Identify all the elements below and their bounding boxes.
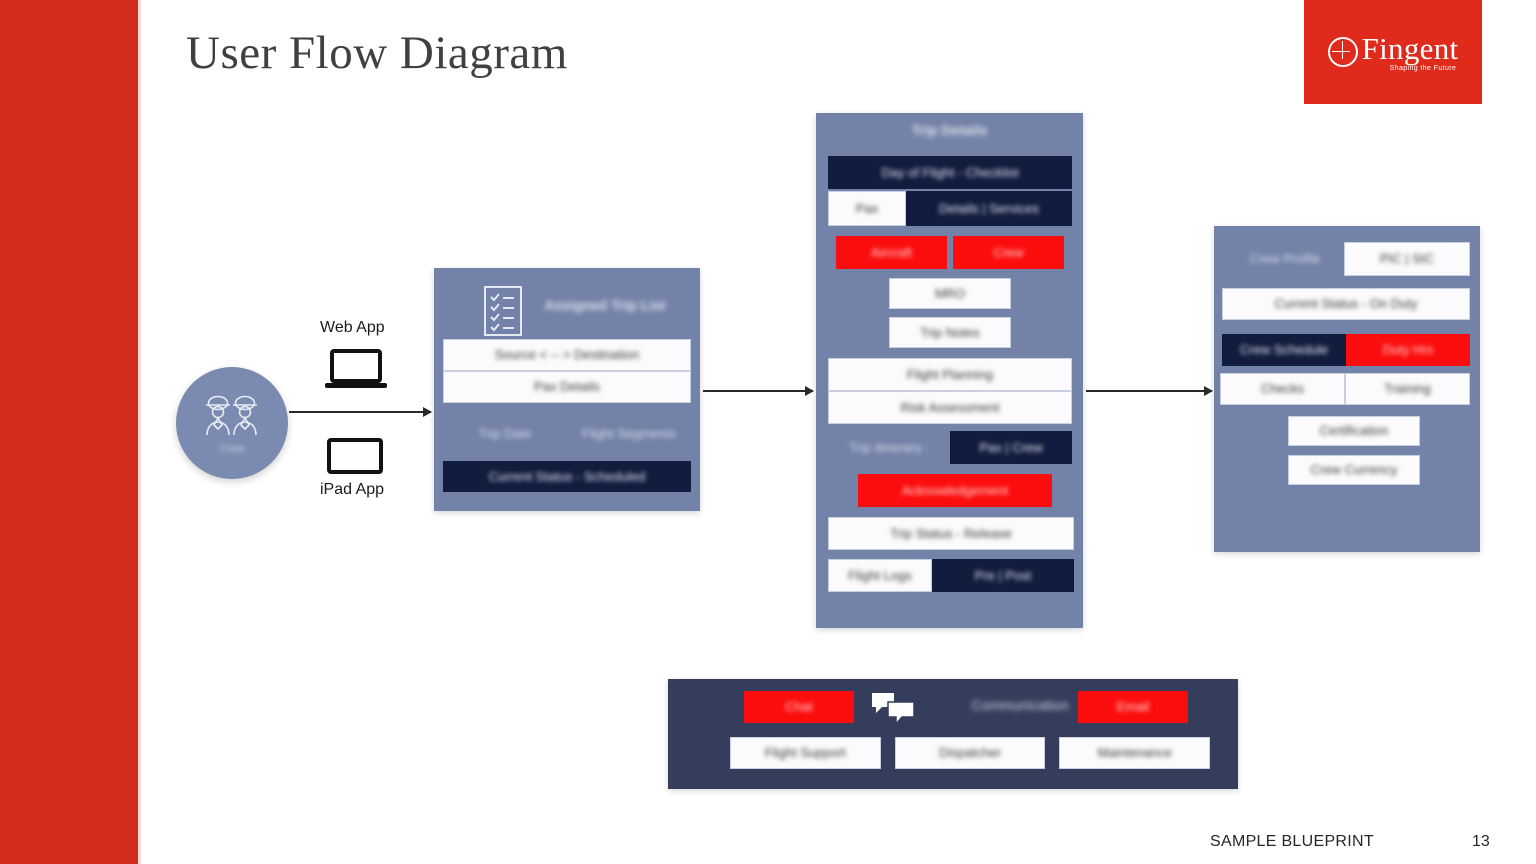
tablet-icon <box>326 438 384 479</box>
trip-list-title: Assigned Trip List <box>520 297 690 313</box>
trip-details-crew[interactable]: Crew <box>953 236 1064 269</box>
brand-logo: Fingent Shaping the Future <box>1304 0 1482 104</box>
trip-details-mro[interactable]: MRO <box>889 278 1011 309</box>
trip-details-flight-logs-row: Flight Logs Pre | Post <box>828 559 1074 592</box>
trip-details-trip-status[interactable]: Trip Status - Release <box>828 517 1074 550</box>
communication-target-maintenance[interactable]: Maintenance <box>1059 737 1210 769</box>
crew-profile-crew-schedule[interactable]: Crew Schedule <box>1222 334 1346 366</box>
trip-list-trip-date: Trip Date <box>443 423 567 445</box>
communication-target-flight-support[interactable]: Flight Support <box>730 737 881 769</box>
panel-trip-details[interactable]: Trip Details Day of Flight - Checklist P… <box>816 113 1083 628</box>
footer-note: SAMPLE BLUEPRINT <box>1210 833 1374 851</box>
crew-profile-checks-row: Checks Training <box>1220 373 1470 405</box>
rail-edge-highlight <box>138 0 141 864</box>
trip-list-flight-segments: Flight Segments <box>567 423 691 445</box>
crew-pilots-icon <box>195 391 269 441</box>
channel-label-web-app: Web App <box>320 319 385 337</box>
crew-profile-crew-currency[interactable]: Crew Currency <box>1288 455 1420 485</box>
trip-details-itinerary-row: Trip Itinerary : Pax | Crew <box>828 431 1072 464</box>
communication-targets-row: Flight Support Dispatcher Maintenance <box>730 737 1210 769</box>
chat-bubbles-icon <box>870 691 918 732</box>
trip-list-current-status[interactable]: Current Status - Scheduled <box>443 461 691 492</box>
actor-crew[interactable]: Crew <box>176 367 288 479</box>
trip-details-flight-planning[interactable]: Flight Planning <box>828 358 1072 391</box>
trip-details-trip-notes[interactable]: Trip Notes <box>889 317 1011 348</box>
communication-email-button[interactable]: Email <box>1078 691 1188 723</box>
communication-target-dispatcher[interactable]: Dispatcher <box>895 737 1046 769</box>
trip-details-pax-crew[interactable]: Pax | Crew <box>950 431 1072 464</box>
trip-details-title: Trip Details <box>816 122 1083 138</box>
slide-canvas: User Flow Diagram Fingent Shaping the Fu… <box>0 0 1536 864</box>
arrow-crew-to-trip-list <box>289 411 431 413</box>
trip-details-pax[interactable]: Pax <box>828 191 906 226</box>
trip-list-pax-details[interactable]: Pax Details <box>443 371 691 403</box>
crew-profile-title: Crew Profile <box>1226 242 1344 276</box>
trip-details-risk-assessment[interactable]: Risk Assessment <box>828 391 1072 424</box>
trip-details-aircraft[interactable]: Aircraft <box>836 236 947 269</box>
laptop-icon <box>325 349 387 396</box>
logo-name: Fingent <box>1362 33 1459 64</box>
trip-details-acknowledgement[interactable]: Acknowledgement <box>858 474 1052 507</box>
crew-profile-training[interactable]: Training <box>1345 373 1470 405</box>
left-red-rail <box>0 0 138 864</box>
communication-chat-button[interactable]: Chat <box>744 691 854 723</box>
trip-list-source-destination[interactable]: Source < -- > Destination <box>443 339 691 371</box>
arrow-trip-list-to-trip-details <box>703 390 813 392</box>
crew-profile-head-row: Crew Profile PIC | SIC <box>1226 242 1470 276</box>
footer-page-number: 13 <box>1472 833 1490 851</box>
channel-label-ipad-app: iPad App <box>320 481 384 499</box>
page-title: User Flow Diagram <box>186 26 568 80</box>
crew-profile-current-status[interactable]: Current Status - On Duty <box>1222 288 1470 320</box>
checklist-icon <box>484 286 522 341</box>
trip-list-meta-row: Trip Date Flight Segments <box>443 423 691 445</box>
trip-details-flight-logs[interactable]: Flight Logs <box>828 559 932 592</box>
trip-details-details-services[interactable]: Details | Services <box>906 191 1072 226</box>
panel-communication[interactable]: Chat Communication Email Flight Support … <box>668 679 1238 789</box>
arrow-trip-details-to-crew-profile <box>1086 390 1212 392</box>
crew-profile-role[interactable]: PIC | SIC <box>1344 242 1470 276</box>
crew-profile-certification[interactable]: Certification <box>1288 416 1420 446</box>
actor-crew-label: Crew <box>219 443 245 455</box>
trip-details-pre-post[interactable]: Pre | Post <box>932 559 1074 592</box>
trip-details-trip-itinerary-label: Trip Itinerary : <box>828 431 950 464</box>
crew-profile-duty-hrs[interactable]: Duty Hrs <box>1346 334 1470 366</box>
crew-profile-checks[interactable]: Checks <box>1220 373 1345 405</box>
crosshair-globe-icon <box>1328 37 1358 67</box>
panel-crew-profile[interactable]: Crew Profile PIC | SIC Current Status - … <box>1214 226 1480 552</box>
crew-profile-schedule-row: Crew Schedule Duty Hrs <box>1222 334 1470 366</box>
trip-details-aircraft-crew-row: Aircraft Crew <box>836 236 1064 269</box>
trip-details-day-of-flight[interactable]: Day of Flight - Checklist <box>828 156 1072 189</box>
logo-tagline: Shaping the Future <box>1390 65 1457 72</box>
panel-assigned-trip-list[interactable]: Assigned Trip List Source < -- > Destina… <box>434 268 700 511</box>
trip-details-pax-row: Pax Details | Services <box>828 191 1072 226</box>
